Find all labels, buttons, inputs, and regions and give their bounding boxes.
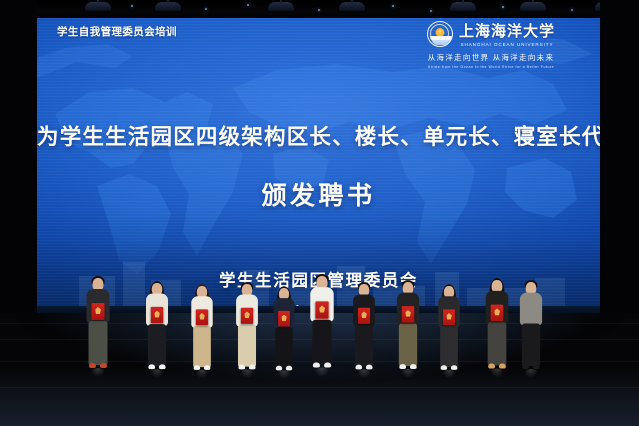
recipient-10 — [485, 280, 509, 396]
university-brand-lockup: 上海海洋大学 SHANGHAI OCEAN UNIVERSITY 从海洋走向世界… — [400, 20, 582, 69]
recipient-floor-reflection — [397, 369, 418, 390]
appointment-certificate — [151, 307, 163, 323]
ceiling-truss — [0, 0, 639, 19]
ceiling-sparkle-2 — [205, 8, 207, 10]
recipient-floor-reflection — [311, 368, 333, 390]
recipient-shoe-right — [533, 364, 540, 369]
recipient-shoe-right — [159, 364, 166, 369]
ceiling-sparkle-4 — [318, 9, 320, 11]
recipient-6 — [310, 276, 334, 396]
university-name-cn: 上海海洋大学 — [459, 20, 555, 41]
university-emblem-icon — [427, 21, 453, 47]
ceremony-title-line1: 为学生生活园区四级架构区长、楼长、单元长、寝室长代表 — [37, 120, 600, 151]
stage-scene: 学生自我管理委员会培训 上海海洋大学 SHANGHAI OCEAN UNIVER… — [0, 0, 639, 426]
recipient-legs — [89, 321, 108, 365]
stage-wall-right — [600, 0, 639, 313]
recipient-legs — [522, 324, 540, 367]
recipient-floor-reflection — [146, 369, 167, 390]
recipient-floor-reflection — [192, 370, 213, 391]
recipient-7 — [352, 284, 376, 396]
recipient-legs — [193, 326, 211, 367]
recipient-4 — [235, 284, 259, 396]
recipient-shoe-right — [286, 366, 292, 371]
ceiling-lamp-3 — [268, 2, 294, 11]
university-motto-cn: 从海洋走向世界 从海洋走向未来 — [400, 52, 582, 63]
recipient-floor-reflection — [354, 369, 375, 390]
recipient-9 — [437, 286, 461, 396]
recipient-shoe-right — [100, 363, 107, 368]
recipient-shoe-right — [249, 365, 256, 370]
recipient-floor-reflection — [439, 370, 460, 391]
recipient-legs — [238, 325, 256, 367]
recipient-shoe-right — [324, 362, 331, 367]
recipient-floor-reflection — [237, 369, 258, 390]
recipient-legs — [275, 327, 292, 367]
led-header: 学生自我管理委员会培训 上海海洋大学 SHANGHAI OCEAN UNIVER… — [37, 18, 600, 70]
recipient-11 — [519, 282, 543, 396]
recipient-legs — [312, 320, 331, 365]
recipient-5 — [272, 288, 296, 396]
ceiling-sparkle-7 — [502, 6, 504, 8]
recipient-1 — [86, 278, 110, 396]
recipient-legs — [488, 322, 507, 365]
ceiling-sparkle-6 — [430, 10, 432, 12]
ceiling-sparkle-5 — [392, 5, 394, 7]
recipient-shoe-right — [451, 365, 458, 370]
ceiling-lamp-1 — [85, 2, 111, 11]
recipient-shoe-right — [366, 365, 373, 370]
appointment-certificate — [241, 308, 253, 324]
award-recipients-row — [0, 270, 639, 396]
appointment-certificate — [196, 309, 208, 325]
ceiling-lamp-5 — [450, 2, 476, 11]
recipient-floor-reflection — [520, 369, 541, 390]
ceiling-sparkle-8 — [571, 9, 573, 11]
recipient-legs — [148, 324, 166, 366]
appointment-certificate — [402, 306, 415, 322]
appointment-certificate — [92, 303, 105, 320]
ceremony-title-line2: 颁发聘书 — [37, 176, 600, 212]
recipient-8 — [396, 282, 420, 396]
appointment-certificate — [443, 309, 455, 325]
recipient-shoe-right — [204, 365, 211, 370]
university-name-en: SHANGHAI OCEAN UNIVERSITY — [459, 42, 555, 47]
led-screen: 学生自我管理委员会培训 上海海洋大学 SHANGHAI OCEAN UNIVER… — [37, 18, 600, 306]
recipient-3 — [190, 286, 214, 396]
recipient-torso — [520, 293, 542, 326]
ceiling-lamp-6 — [520, 2, 546, 11]
appointment-certificate — [315, 301, 328, 318]
ceiling-lamp-4 — [339, 2, 365, 11]
recipient-legs — [355, 325, 373, 367]
university-motto-en: Stride from the Ocean to the World Striv… — [400, 65, 582, 69]
recipient-2 — [145, 283, 169, 396]
recipient-legs — [440, 326, 458, 367]
recipient-floor-reflection — [486, 368, 508, 390]
event-kicker-label: 学生自我管理委员会培训 — [57, 24, 177, 39]
recipient-legs — [399, 324, 417, 367]
appointment-certificate — [278, 311, 290, 327]
recipient-shoe-right — [410, 364, 417, 369]
appointment-certificate — [358, 308, 370, 324]
ceiling-sparkle-1 — [131, 5, 133, 7]
recipient-floor-reflection — [274, 370, 294, 390]
recipient-shoe-right — [499, 364, 506, 369]
ceiling-lamp-2 — [155, 2, 181, 11]
appointment-certificate — [491, 305, 504, 322]
ceiling-sparkle-3 — [247, 4, 249, 6]
recipient-floor-reflection — [87, 368, 109, 390]
stage-wall-left — [0, 0, 37, 313]
